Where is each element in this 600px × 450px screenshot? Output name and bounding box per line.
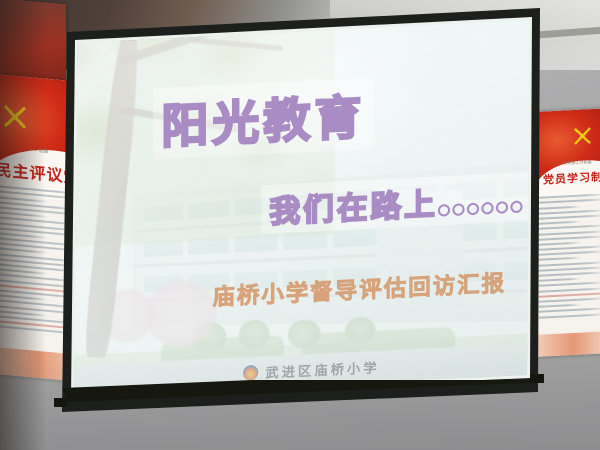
school-logo-icon <box>243 365 258 381</box>
screen-bar-end-left <box>54 398 67 407</box>
screen-bar-end-right <box>530 374 544 383</box>
projected-slide: 阳光教育 我们在路上○○○○○○ 庙桥小学督导评估回访汇报 武进区庙桥小学 <box>44 6 546 416</box>
slide-title-main: 阳光教育 <box>153 78 373 160</box>
screen-surface: 阳光教育 我们在路上○○○○○○ 庙桥小学督导评估回访汇报 武进区庙桥小学 <box>44 6 546 416</box>
slide-title-sub-text: 我们在路上 <box>270 187 438 231</box>
party-emblem-icon <box>4 105 26 129</box>
projection-screen: 阳光教育 我们在路上○○○○○○ 庙桥小学督导评估回访汇报 武进区庙桥小学 <box>44 6 546 416</box>
poster-right-2-body <box>539 190 600 321</box>
party-emblem-icon <box>574 127 591 145</box>
slide-title-sub-dots: ○○○○○○ <box>438 198 525 218</box>
photo-scene: —— 制度 民主评议党 —— 学校党支部制度 “”制度 —— 党支部工作制度 党… <box>0 0 600 450</box>
